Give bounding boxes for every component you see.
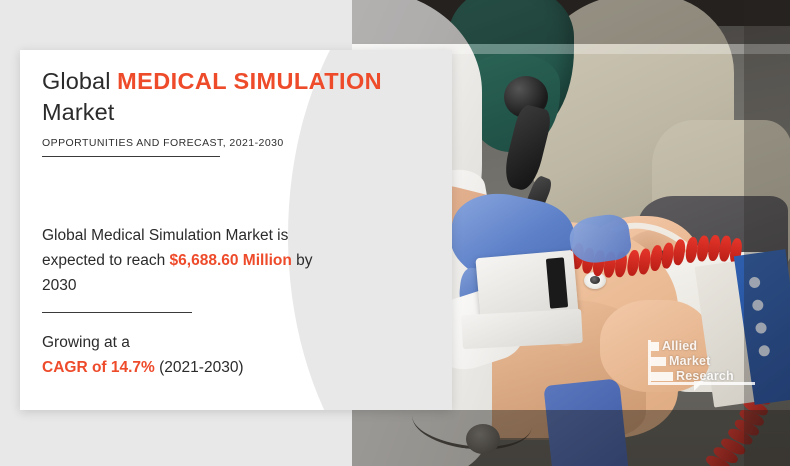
equipment-tray [461, 309, 583, 349]
allied-market-research-watermark: Allied Market Research [648, 338, 760, 384]
watermark-rows: Allied Market Research [648, 338, 760, 384]
watermark-row-allied: Allied [650, 340, 760, 353]
text-card: Global MEDICAL SIMULATION Market OPPORTU… [20, 50, 452, 410]
market-report-banner: Allied Market Research Global MEDICAL SI… [0, 0, 790, 466]
cagr-period: (2021-2030) [155, 359, 244, 376]
photo-bottom-vignette [352, 410, 790, 466]
market-value-statement: Global Medical Simulation Market is expe… [42, 223, 342, 298]
headline-accent: MEDICAL SIMULATION [117, 68, 382, 94]
headline-prefix: Global [42, 68, 117, 94]
subtitle: OPPORTUNITIES AND FORECAST, 2021-2030 [42, 137, 412, 149]
watermark-line-2: Market [669, 355, 711, 368]
card-content: Global MEDICAL SIMULATION Market OPPORTU… [42, 66, 412, 380]
watermark-line-1: Allied [662, 340, 697, 353]
photo-right-vignette [744, 0, 790, 466]
page-title: Global MEDICAL SIMULATION Market [42, 66, 412, 128]
stat-value: $6,688.60 Million [170, 252, 292, 269]
headline-suffix: Market [42, 99, 114, 125]
cagr-statement: Growing at aCAGR of 14.7% (2021-2030) [42, 330, 412, 380]
watermark-line-3: Research [676, 370, 734, 383]
bar-chart-icon [650, 342, 659, 351]
cagr-lead: Growing at a [42, 334, 130, 351]
bar-chart-icon [650, 372, 673, 381]
subtitle-divider [42, 156, 220, 157]
cagr-value: CAGR of 14.7% [42, 359, 155, 376]
stat-divider [42, 312, 192, 313]
photo-top-vignette [352, 0, 790, 44]
watermark-row-research: Research [650, 370, 760, 383]
watermark-row-market: Market [650, 355, 760, 368]
bar-chart-icon [650, 357, 666, 366]
